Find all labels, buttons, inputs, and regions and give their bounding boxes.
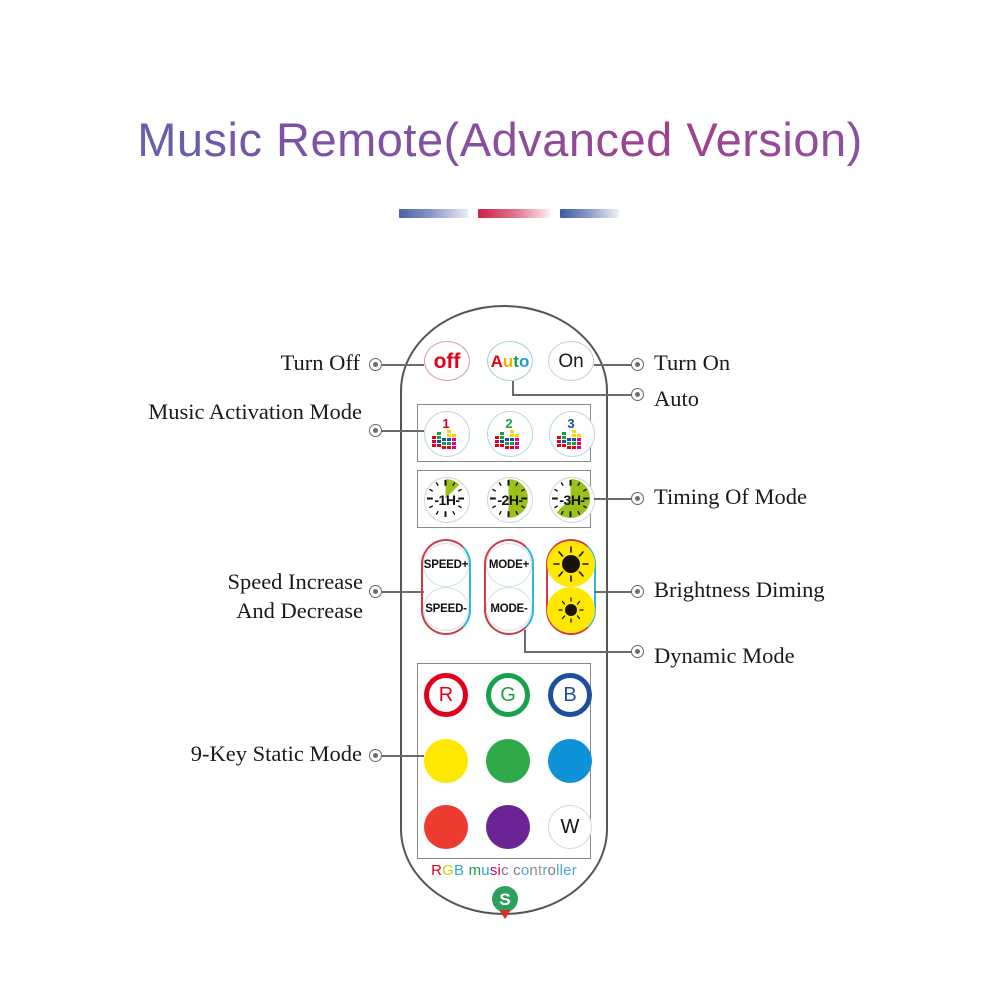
music-mode-number: 2 — [505, 416, 512, 431]
auto-button-label: Auto — [491, 353, 530, 370]
mode-decrease-button[interactable]: MODE- — [486, 587, 532, 631]
music-mode-number: 3 — [567, 416, 574, 431]
divider-red-center — [478, 209, 550, 218]
equalizer-icon: 1 — [425, 412, 467, 454]
color-key-yellow[interactable] — [424, 739, 468, 783]
page-root: Music Remote(Advanced Version) off Auto … — [0, 0, 1000, 1000]
callout-9key-static-mode: 9-Key Static Mode — [150, 740, 362, 769]
callout-turn-off: Turn Off — [255, 349, 360, 378]
callout-timing-of-mode: Timing Of Mode — [654, 483, 807, 512]
timer-3h-label: -3H- — [550, 478, 594, 522]
color-key-white[interactable]: W — [548, 805, 592, 849]
speed-increase-button[interactable]: SPEED+ — [423, 543, 469, 587]
on-button-label: On — [558, 352, 583, 371]
callout-speed-line2: And Decrease — [133, 597, 363, 626]
callout-dot-9key — [369, 749, 382, 762]
callout-lead-9key — [382, 755, 424, 757]
callout-dot-brightness — [631, 585, 644, 598]
callout-music-activation-mode: Music Activation Mode — [137, 398, 362, 427]
sun-bright-icon — [547, 541, 595, 587]
svg-text:S: S — [499, 890, 510, 909]
color-key-blue-ring[interactable]: B — [548, 673, 592, 717]
callout-dot-music-activation — [369, 424, 382, 437]
page-title: Music Remote(Advanced Version) — [0, 112, 1000, 167]
callout-lead-dynamic — [524, 651, 632, 653]
music-mode-1[interactable]: 1 — [424, 411, 470, 457]
callout-dot-timing — [631, 492, 644, 505]
equalizer-icon: 3 — [550, 412, 592, 454]
auto-button[interactable]: Auto — [487, 341, 533, 381]
callout-leadv-dynamic — [524, 630, 526, 652]
speed-decrease-button[interactable]: SPEED- — [423, 587, 469, 631]
callout-speed-increase-decrease: Speed Increase And Decrease — [133, 568, 363, 626]
color-key-green[interactable] — [486, 739, 530, 783]
callout-dot-dynamic — [631, 645, 644, 658]
callout-lead-timing — [594, 498, 632, 500]
callout-lead-auto — [512, 394, 632, 396]
callout-dot-turn-on — [631, 358, 644, 371]
divider-blue-right — [560, 209, 619, 218]
timer-3h-button[interactable]: -3H- — [549, 477, 595, 523]
callout-lead-brightness — [594, 591, 632, 593]
color-key-red-ring[interactable]: R — [424, 673, 468, 717]
music-mode-3[interactable]: 3 — [549, 411, 595, 457]
callout-leadv-auto — [512, 381, 514, 395]
brightness-up-button[interactable] — [547, 541, 595, 587]
on-button[interactable]: On — [548, 341, 594, 381]
callout-lead-turn-off — [382, 364, 424, 366]
color-key-purple[interactable] — [486, 805, 530, 849]
color-key-red[interactable] — [424, 805, 468, 849]
music-mode-2[interactable]: 2 — [487, 411, 533, 457]
callout-speed-line1: Speed Increase — [133, 568, 363, 597]
callout-lead-speed — [382, 591, 424, 593]
callout-dot-turn-off — [369, 358, 382, 371]
off-button-label: off — [434, 351, 461, 372]
callout-turn-on: Turn On — [654, 349, 730, 378]
callout-lead-music-activation — [382, 430, 424, 432]
sun-dim-icon — [547, 587, 595, 633]
brand-text: RGB music controller — [400, 862, 608, 879]
equalizer-icon: 2 — [488, 412, 530, 454]
timer-1h-label: -1H- — [425, 478, 469, 522]
color-key-green-ring[interactable]: G — [486, 673, 530, 717]
s-logo-icon: S — [488, 884, 522, 920]
off-button[interactable]: off — [424, 341, 470, 381]
callout-dynamic-mode: Dynamic Mode — [654, 642, 795, 671]
callout-dot-speed — [369, 585, 382, 598]
divider-blue-left — [399, 209, 468, 218]
color-key-cyan-blue[interactable] — [548, 739, 592, 783]
mode-increase-button[interactable]: MODE+ — [486, 543, 532, 587]
callout-auto: Auto — [654, 385, 699, 414]
timer-2h-button[interactable]: -2H- — [487, 477, 533, 523]
callout-dot-auto — [631, 388, 644, 401]
brand-logo: S — [488, 884, 522, 920]
brightness-down-button[interactable] — [547, 587, 595, 633]
timer-1h-button[interactable]: -1H- — [424, 477, 470, 523]
timer-2h-label: -2H- — [488, 478, 532, 522]
music-mode-number: 1 — [442, 416, 449, 431]
callout-lead-turn-on — [594, 364, 632, 366]
callout-brightness-diming: Brightness Diming — [654, 576, 825, 605]
